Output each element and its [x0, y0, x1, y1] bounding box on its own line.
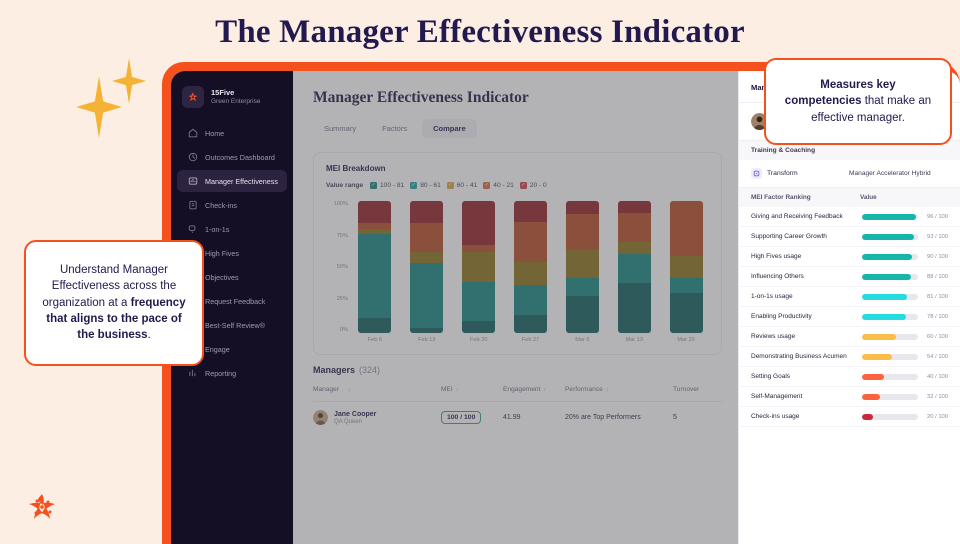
callout-left-text-part2: .	[148, 329, 151, 341]
chart-bar-segment	[618, 254, 651, 283]
sidebar-brand[interactable]: 15Five Green Enterprise	[171, 83, 293, 122]
legend-checkbox-icon: ✓	[447, 182, 454, 189]
chart-bar-segment	[358, 234, 391, 318]
chart-bar-column[interactable]: Feb 13	[404, 201, 450, 346]
factor-progress-bar	[862, 294, 918, 300]
sidebar-brand-name: 15Five	[211, 88, 261, 97]
chart-bar-segment	[566, 214, 599, 250]
chart-bar-column[interactable]: Feb 27	[508, 201, 554, 346]
factor-progress-bar	[862, 334, 918, 340]
chart-bar	[358, 201, 391, 333]
factor-progress-fill	[862, 414, 873, 420]
details-kv-row: Transform Manager Accelerator Hybrid	[739, 160, 960, 188]
chart-x-label: Feb 6	[368, 337, 382, 343]
chart-x-label: Mar 13	[626, 337, 643, 343]
factor-progress-bar	[862, 414, 918, 420]
tab-summary[interactable]: Summary	[313, 119, 367, 138]
legend-checkbox-icon: ✓	[483, 182, 490, 189]
factor-row[interactable]: Reviews usage60 / 100	[739, 327, 960, 347]
chart-bar-segment	[358, 318, 391, 333]
factor-table-columns: MEI Factor Ranking Value	[739, 188, 960, 207]
column-label: Turnover	[673, 386, 699, 393]
factor-progress-fill	[862, 374, 884, 380]
main-page-title: Manager Effectiveness Indicator	[313, 89, 722, 107]
legend-label: Value range	[326, 182, 363, 189]
factor-progress-fill	[862, 214, 916, 220]
chart-bar-segment	[514, 315, 547, 333]
chart-bar-segment	[462, 245, 495, 253]
sidebar-item-1-on-1s[interactable]: 1-on-1s	[177, 218, 287, 240]
y-tick: 75%	[326, 233, 348, 239]
legend-item-label: 100 - 81	[380, 182, 404, 189]
managers-table-header: Managers (324)	[313, 365, 722, 375]
sort-icon: ↕	[348, 387, 351, 393]
chart-x-label: Feb 20	[470, 337, 487, 343]
manager-name: Jane Cooper	[334, 411, 376, 418]
chart-bar-segment	[670, 293, 703, 333]
sidebar-item-label: Objectives	[205, 273, 239, 282]
managers-table-count: (324)	[359, 365, 380, 375]
factor-row[interactable]: 1-on-1s usage81 / 100	[739, 287, 960, 307]
chart-bar-segment	[514, 262, 547, 286]
page-title: The Manager Effectiveness Indicator	[0, 14, 960, 51]
factor-progress-fill	[862, 394, 880, 400]
factor-progress-fill	[862, 314, 906, 320]
factor-row[interactable]: Demonstrating Business Acumen54 / 100	[739, 347, 960, 367]
sidebar-item-manager-effectiveness[interactable]: Manager Effectiveness	[177, 170, 287, 192]
cell-performance: 20% are Top Performers	[565, 414, 673, 421]
factor-column-label: MEI Factor Ranking	[751, 194, 860, 201]
factor-name: 1-on-1s usage	[751, 293, 862, 300]
legend-item[interactable]: ✓ 20 - 0	[520, 182, 547, 189]
factor-row[interactable]: Giving and Receiving Feedback96 / 100	[739, 207, 960, 227]
factor-name: Reviews usage	[751, 333, 862, 340]
factor-name: Setting Goals	[751, 373, 862, 380]
factor-name: Demonstrating Business Acumen	[751, 353, 862, 360]
mei-breakdown-card: MEI Breakdown Value range ✓ 100 - 81 ✓ 8…	[313, 152, 722, 355]
details-kv-key-label: Transform	[767, 170, 798, 177]
factor-name: Giving and Receiving Feedback	[751, 213, 862, 220]
sidebar-item-home[interactable]: Home	[177, 122, 287, 144]
column-engagement[interactable]: Engagement↕	[503, 386, 565, 393]
chart-bar-segment	[566, 201, 599, 214]
chart-x-label: Feb 27	[522, 337, 539, 343]
sidebar-item-label: High Fives	[205, 249, 239, 258]
factor-row[interactable]: Influencing Others88 / 100	[739, 267, 960, 287]
tab-compare[interactable]: Compare	[422, 119, 477, 138]
chart-plot-area: Feb 6Feb 13Feb 20Feb 27Mar 6Mar 13Mar 20	[352, 201, 709, 346]
factor-progress-bar	[862, 274, 918, 280]
y-tick: 100%	[326, 201, 348, 207]
factor-row[interactable]: Setting Goals40 / 100	[739, 367, 960, 387]
sort-icon: ↕	[606, 387, 609, 393]
factor-progress-bar	[862, 394, 918, 400]
fifteen-five-flower-logo-icon	[22, 487, 62, 527]
managers-table-title: Managers	[313, 365, 355, 375]
factor-value: 90 / 100	[918, 254, 948, 260]
chart-bar-segment	[618, 283, 651, 333]
mei-breakdown-title: MEI Breakdown	[326, 164, 709, 173]
column-label: Performance	[565, 386, 603, 393]
chart-bar-segment	[670, 278, 703, 294]
column-performance[interactable]: Performance↕	[565, 386, 673, 393]
chart-icon	[188, 176, 198, 186]
factor-name: Self-Management	[751, 393, 862, 400]
cell-engagement: 41.99	[503, 414, 565, 421]
chart-bar-column[interactable]: Mar 13	[611, 201, 657, 346]
sidebar-item-label: Check-ins	[205, 201, 237, 210]
chart-bar-segment	[670, 256, 703, 277]
chart-x-label: Mar 6	[575, 337, 589, 343]
chart-bar-segment	[618, 242, 651, 254]
factor-value: 96 / 100	[918, 214, 948, 220]
chart-bar-column[interactable]: Mar 20	[663, 201, 709, 346]
column-label: Manager	[313, 386, 339, 393]
y-tick: 25%	[326, 296, 348, 302]
y-tick: 50%	[326, 264, 348, 270]
chart-y-axis: 100% 75% 50% 25% 0%	[326, 201, 352, 346]
legend-checkbox-icon: ✓	[520, 182, 527, 189]
chart-bar-column[interactable]: Mar 6	[559, 201, 605, 346]
details-kv-value: Manager Accelerator Hybrid	[849, 170, 931, 177]
factor-name: High Fives usage	[751, 253, 862, 260]
main-content: Manager Effectiveness Indicator Summary …	[293, 71, 738, 544]
sidebar-item-label: Outcomes Dashboard	[205, 153, 275, 162]
sidebar-item-label: Request Feedback	[205, 297, 265, 306]
factor-row[interactable]: High Fives usage90 / 100	[739, 247, 960, 267]
sidebar-item-label: Engage	[205, 345, 230, 354]
callout-left: Understand Manager Effectiveness across …	[24, 240, 204, 366]
legend-item[interactable]: ✓ 100 - 81	[370, 182, 404, 189]
sidebar-brand-org: Green Enterprise	[211, 98, 261, 106]
factor-value: 20 / 100	[918, 414, 948, 420]
sidebar-item-outcomes-dashboard[interactable]: Outcomes Dashboard	[177, 146, 287, 168]
factor-value: 54 / 100	[918, 354, 948, 360]
table-row[interactable]: Jane Cooper QA Queen 100 / 100 41.99 20%…	[313, 402, 722, 425]
chart-bar-segment	[462, 282, 495, 322]
factor-progress-fill	[862, 334, 896, 340]
chart-bar	[618, 201, 651, 333]
chart-bar-segment	[462, 252, 495, 281]
fifteen-five-logo-icon	[182, 86, 204, 108]
factor-row[interactable]: Check-ins usage20 / 100	[739, 407, 960, 427]
chart-bar-segment	[358, 201, 391, 223]
sidebar-item-label: 1-on-1s	[205, 225, 229, 234]
tab-factors[interactable]: Factors	[371, 119, 418, 138]
legend-checkbox-icon: ✓	[370, 182, 377, 189]
factor-progress-fill	[862, 274, 911, 280]
factor-row[interactable]: Supporting Career Growth93 / 100	[739, 227, 960, 247]
column-mei[interactable]: MEI↕	[441, 386, 503, 393]
factor-value: 93 / 100	[918, 234, 948, 240]
factor-progress-fill	[862, 354, 892, 360]
target-icon	[188, 152, 198, 162]
factor-name: Supporting Career Growth	[751, 233, 862, 240]
legend-item-label: 40 - 21	[493, 182, 514, 189]
column-manager[interactable]: Manager↕	[313, 386, 441, 393]
details-kv-key: Transform	[751, 168, 849, 179]
manager-role: QA Queen	[334, 419, 376, 425]
sparkle-icon	[76, 76, 122, 138]
report-icon	[188, 368, 198, 378]
factor-progress-bar	[862, 374, 918, 380]
factor-progress-fill	[862, 234, 914, 240]
legend-checkbox-icon: ✓	[410, 182, 417, 189]
factor-value: 32 / 100	[918, 394, 948, 400]
column-label: MEI	[441, 386, 453, 393]
managers-table-columns: Manager↕ MEI↕ Engagement↕ Performance↕ T…	[313, 375, 722, 402]
factor-name: Enabling Productivity	[751, 313, 862, 320]
factor-progress-bar	[862, 254, 918, 260]
transform-icon	[751, 168, 762, 179]
chart-bar-segment	[514, 222, 547, 262]
chart-bar-segment	[618, 213, 651, 242]
sort-icon: ↕	[456, 387, 459, 393]
factor-name: Influencing Others	[751, 273, 862, 280]
chart-bar-segment	[410, 328, 443, 333]
home-icon	[188, 128, 198, 138]
mei-breakdown-chart: 100% 75% 50% 25% 0% Feb 6Feb 13Feb 20Feb…	[326, 201, 709, 346]
legend-item-label: 80 - 61	[420, 182, 441, 189]
mei-badge: 100 / 100	[441, 411, 481, 424]
chart-bar-segment	[566, 250, 599, 278]
sidebar-item-label: Reporting	[205, 369, 236, 378]
factor-progress-bar	[862, 214, 918, 220]
chart-bar	[514, 201, 547, 333]
legend-item[interactable]: ✓ 40 - 21	[483, 182, 514, 189]
column-label: Engagement	[503, 386, 540, 393]
tab-bar: Summary Factors Compare	[313, 119, 722, 138]
chart-bar	[566, 201, 599, 333]
factor-progress-fill	[862, 254, 912, 260]
factor-value: 40 / 100	[918, 374, 948, 380]
chart-bar	[462, 201, 495, 333]
legend-item-label: 60 - 41	[457, 182, 478, 189]
sidebar-item-check-ins[interactable]: Check-ins	[177, 194, 287, 216]
factor-name: Check-ins usage	[751, 413, 862, 420]
sidebar-item-label: Home	[205, 129, 224, 138]
factor-progress-bar	[862, 354, 918, 360]
sparkle-icon	[112, 58, 146, 104]
chart-bar-segment	[618, 201, 651, 213]
chart-bar-segment	[514, 285, 547, 314]
chart-bar	[410, 201, 443, 333]
legend-item[interactable]: ✓ 60 - 41	[447, 182, 478, 189]
chart-bar-segment	[514, 201, 547, 222]
avatar	[313, 410, 328, 425]
chart-bar	[670, 201, 703, 333]
chart-legend: Value range ✓ 100 - 81 ✓ 80 - 61 ✓ 60 - …	[326, 182, 709, 189]
cell-turnover: 5	[673, 414, 723, 421]
chart-bar-segment	[566, 296, 599, 333]
factor-progress-bar	[862, 314, 918, 320]
sparkle-decoration	[70, 58, 166, 138]
chart-bar-segment	[410, 263, 443, 328]
chart-bar-segment	[462, 321, 495, 333]
chart-bar-segment	[670, 201, 703, 256]
chart-bar-segment	[410, 201, 443, 223]
chart-x-label: Mar 20	[677, 337, 694, 343]
factor-value: 88 / 100	[918, 274, 948, 280]
factor-value: 78 / 100	[918, 314, 948, 320]
sidebar-item-label: Best-Self Review®	[205, 321, 265, 330]
chart-bar-segment	[410, 252, 443, 263]
factor-row[interactable]: Enabling Productivity78 / 100	[739, 307, 960, 327]
cell-manager: Jane Cooper QA Queen	[313, 410, 441, 425]
chart-bar-segment	[462, 201, 495, 245]
legend-item[interactable]: ✓ 80 - 61	[410, 182, 441, 189]
value-column-label: Value	[860, 194, 948, 201]
chart-bar-segment	[566, 278, 599, 296]
chart-bar-column[interactable]: Feb 6	[352, 201, 398, 346]
sidebar-item-label: Manager Effectiveness	[205, 177, 278, 186]
chart-bar-segment	[410, 223, 443, 252]
column-turnover[interactable]: Turnover	[673, 386, 723, 393]
factor-value: 60 / 100	[918, 334, 948, 340]
y-tick: 0%	[326, 327, 348, 333]
factor-value: 81 / 100	[918, 294, 948, 300]
factor-progress-bar	[862, 234, 918, 240]
cell-mei: 100 / 100	[441, 411, 503, 424]
chart-x-label: Feb 13	[418, 337, 435, 343]
factor-list: Giving and Receiving Feedback96 / 100Sup…	[739, 207, 960, 427]
legend-item-label: 20 - 0	[530, 182, 547, 189]
factor-row[interactable]: Self-Management32 / 100	[739, 387, 960, 407]
chat-icon	[188, 224, 198, 234]
sort-icon: ↕	[543, 387, 546, 393]
factor-progress-fill	[862, 294, 907, 300]
chart-bar-column[interactable]: Feb 20	[456, 201, 502, 346]
clipboard-icon	[188, 200, 198, 210]
callout-right: Measures key competencies that make an e…	[764, 58, 952, 145]
